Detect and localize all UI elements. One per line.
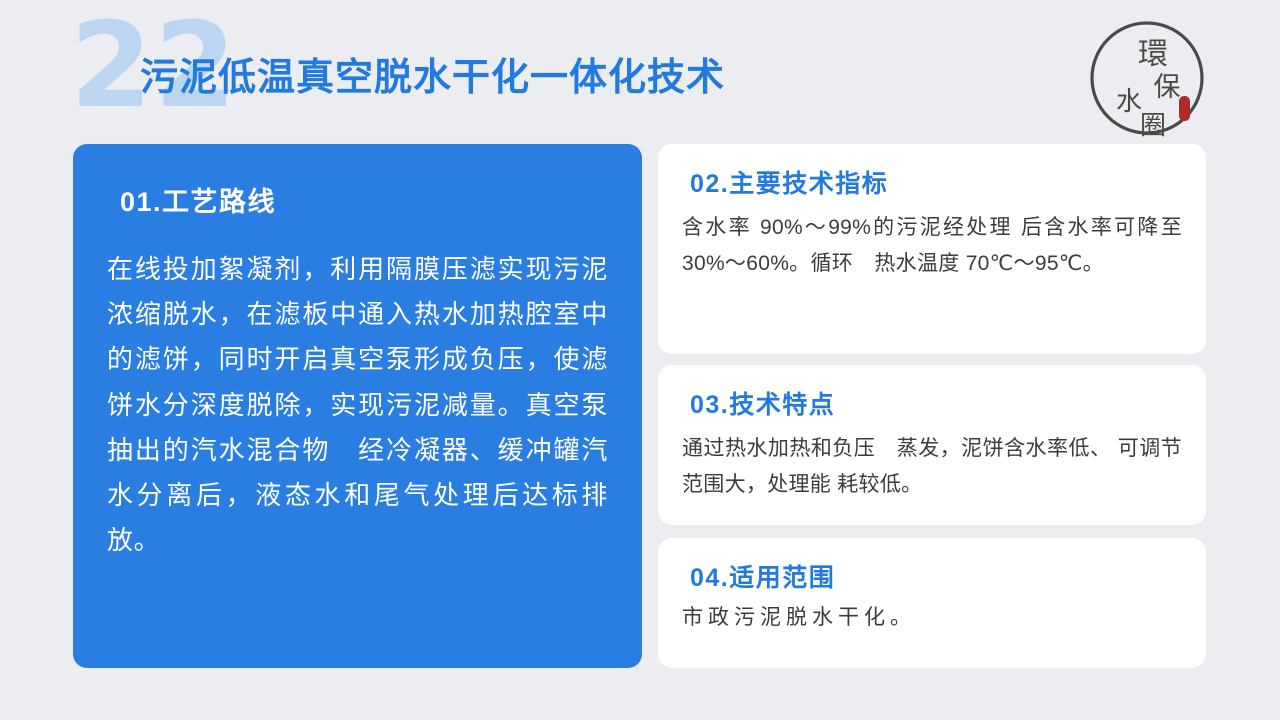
svg-text:圈: 圈	[1140, 111, 1166, 138]
svg-text:保: 保	[1154, 72, 1181, 103]
slide-canvas: 22 污泥低温真空脱水干化一体化技术 環 保 水 圈 01.工艺路线 在线投加絮…	[0, 0, 1280, 720]
card-key-indicators[interactable]: 02.主要技术指标 含水率 90%～99%的污泥经处理 后含水率可降至 30%～…	[658, 144, 1206, 354]
slide-header: 22 污泥低温真空脱水干化一体化技术 環 保 水 圈	[0, 0, 1280, 144]
card-body-03: 通过热水加热和负压 蒸发，泥饼含水率低、 可调节范围大，处理能 耗较低。	[682, 431, 1182, 503]
card-heading-02: 02.主要技术指标	[690, 164, 1182, 200]
brand-seal-logo: 環 保 水 圈	[1087, 18, 1207, 138]
card-body-02: 含水率 90%～99%的污泥经处理 后含水率可降至 30%～60%。循环 热水温…	[682, 210, 1182, 282]
card-heading-01: 01.工艺路线	[120, 180, 608, 219]
card-process-route[interactable]: 01.工艺路线 在线投加絮凝剂，利用隔膜压滤实现污泥浓缩脱水，在滤板中通入热水加…	[73, 144, 642, 668]
page-title: 污泥低温真空脱水干化一体化技术	[140, 58, 725, 100]
svg-text:環: 環	[1138, 37, 1168, 72]
card-body-04: 市政污泥脱水干化。	[682, 600, 1182, 636]
card-technical-features[interactable]: 03.技术特点 通过热水加热和负压 蒸发，泥饼含水率低、 可调节范围大，处理能 …	[658, 365, 1206, 525]
card-body-01: 在线投加絮凝剂，利用隔膜压滤实现污泥浓缩脱水，在滤板中通入热水加热腔室中的滤饼，…	[107, 247, 608, 564]
svg-text:水: 水	[1116, 87, 1142, 117]
card-heading-04: 04.适用范围	[690, 558, 1182, 594]
card-heading-03: 03.技术特点	[690, 385, 1182, 421]
card-application-scope[interactable]: 04.适用范围 市政污泥脱水干化。	[658, 538, 1206, 668]
